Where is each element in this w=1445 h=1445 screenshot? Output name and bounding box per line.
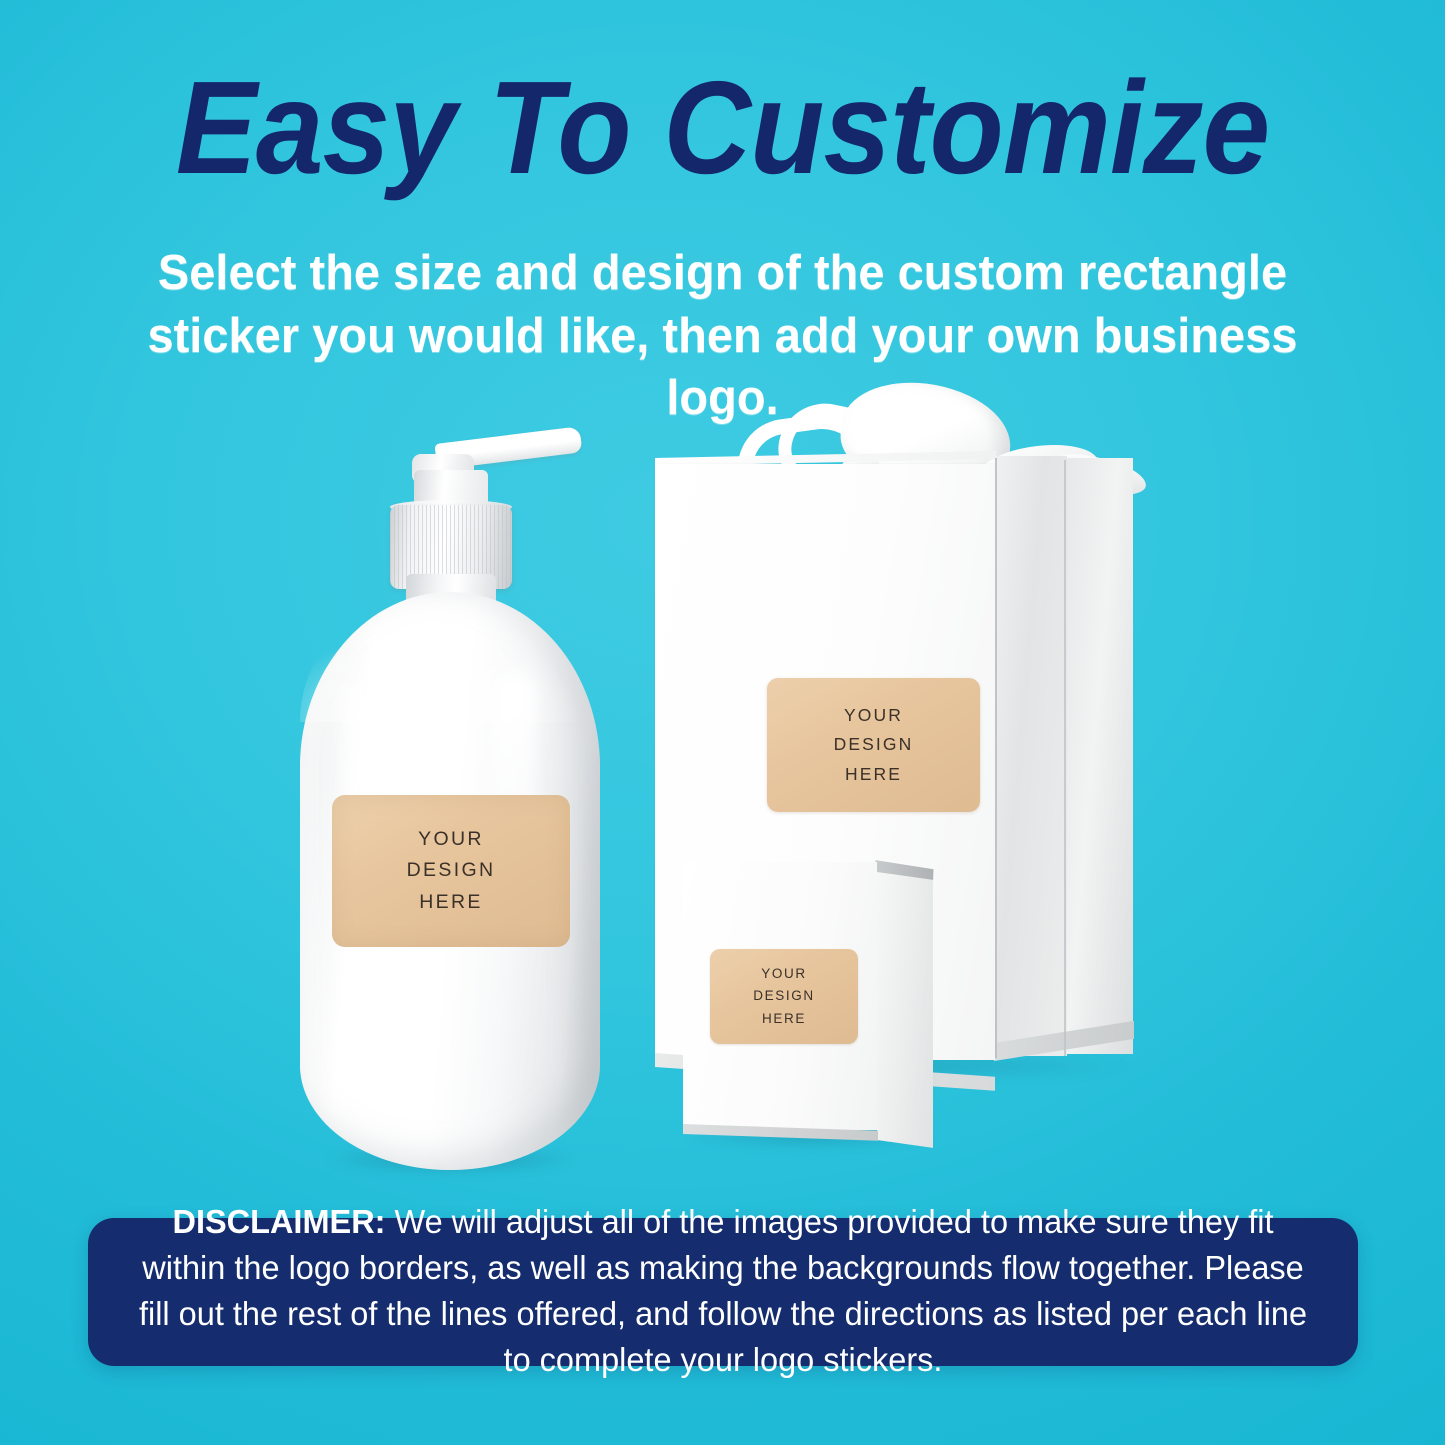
disclaimer-text: DISCLAIMER: We will adjust all of the im… — [134, 1200, 1312, 1384]
giftbox-side-panel-far — [1065, 458, 1133, 1054]
sticker-line-2: DESIGN — [753, 985, 814, 1007]
disclaimer-box: DISCLAIMER: We will adjust all of the im… — [88, 1218, 1358, 1366]
giftbox-edge-line-2 — [1064, 460, 1066, 1056]
giftbox-edge-line-1 — [995, 458, 997, 1058]
sticker-line-2: DESIGN — [834, 730, 914, 759]
sticker-line-1: YOUR — [761, 963, 806, 985]
smallbox-side-panel — [877, 872, 933, 1148]
pump-bottle-mockup: YOUR DESIGN HERE — [296, 432, 608, 1170]
giftbox-side-panel-near — [995, 456, 1067, 1056]
small-product-box-mockup: YOUR DESIGN HERE — [683, 862, 951, 1152]
bottle-sticker-label: YOUR DESIGN HERE — [332, 795, 570, 947]
promo-banner: Easy To Customize Select the size and de… — [0, 0, 1445, 1445]
smallbox-sticker-label: YOUR DESIGN HERE — [710, 949, 858, 1044]
giftbox-sticker-label: YOUR DESIGN HERE — [767, 678, 980, 812]
page-title: Easy To Customize — [58, 62, 1387, 194]
sticker-line-2: DESIGN — [407, 855, 496, 887]
sticker-line-3: HERE — [845, 760, 902, 789]
sticker-line-3: HERE — [762, 1008, 806, 1030]
sticker-line-1: YOUR — [418, 824, 484, 856]
disclaimer-label: DISCLAIMER: — [172, 1204, 385, 1241]
sticker-line-3: HERE — [419, 887, 483, 919]
sticker-line-1: YOUR — [844, 701, 903, 730]
